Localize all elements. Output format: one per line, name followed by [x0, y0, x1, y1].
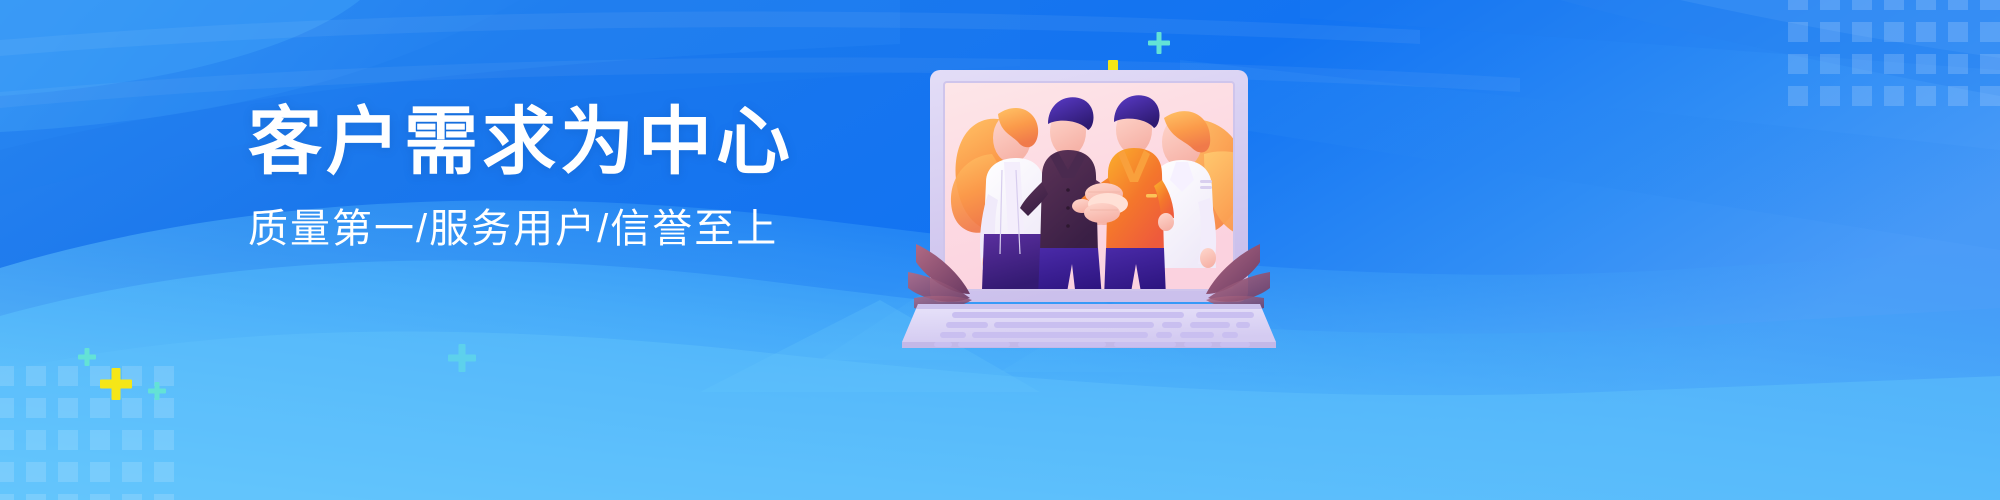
- laptop-with-team-handstack: [908, 58, 1308, 348]
- teal-plus-mid: [78, 348, 96, 366]
- promo-banner: 客户需求为中心 质量第一/服务用户/信誉至上: [0, 0, 2000, 500]
- banner-copy: 客户需求为中心 质量第一/服务用户/信誉至上: [248, 104, 868, 251]
- yellow-plus-bottom: [100, 368, 132, 400]
- square-grid-top-right: [1788, 0, 2000, 106]
- teal-plus-lower-center: [448, 344, 476, 372]
- teal-plus-bottom: [148, 382, 166, 400]
- laptop-keyboard-base: [902, 304, 1276, 348]
- banner-subline: 质量第一/服务用户/信誉至上: [248, 207, 868, 251]
- teal-plus-small: [1148, 32, 1170, 54]
- banner-headline: 客户需求为中心: [248, 104, 868, 181]
